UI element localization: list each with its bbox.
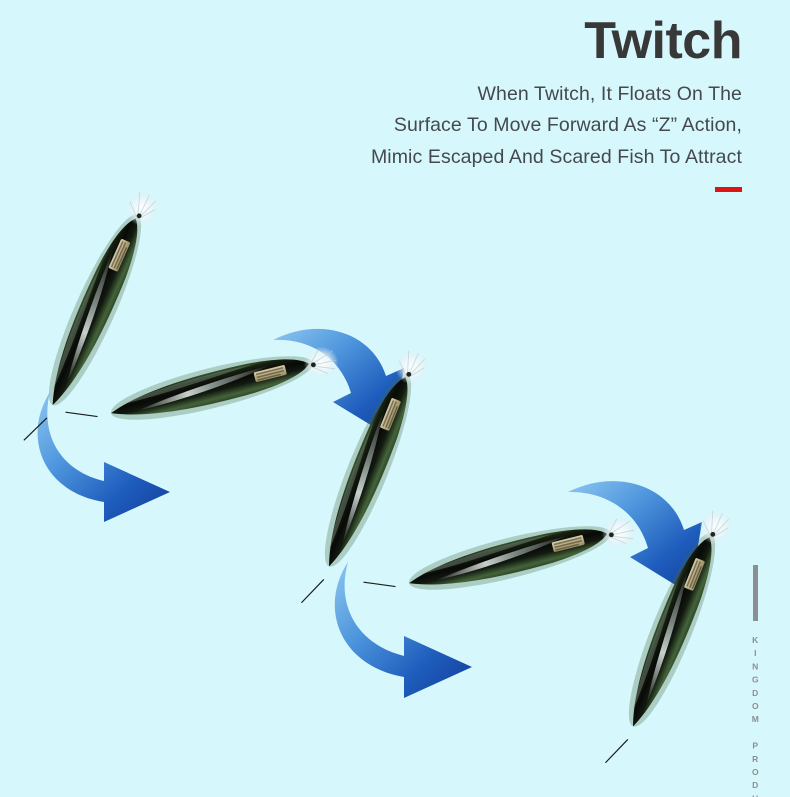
header-block: Twitch When Twitch, It Floats On The Sur… [272,14,742,192]
lure-2 [64,337,342,443]
page-subtitle: When Twitch, It Floats On The Surface To… [272,79,742,174]
brand-divider-bar [753,565,758,621]
subtitle-line-2: Surface To Move Forward As “Z” Action, [394,114,742,136]
subtitle-line-1: When Twitch, It Floats On The [478,83,742,105]
red-accent-bar [715,187,742,192]
subtitle-line-3: Mimic Escaped And Scared Fish To Attract [371,146,742,168]
brand-mark: KINGDOM PRODUCTS [746,565,764,797]
brand-label: KINGDOM PRODUCTS [751,635,760,797]
lure-4 [362,507,640,613]
page-title: Twitch [272,14,742,69]
poster-canvas: Twitch When Twitch, It Floats On The Sur… [0,0,790,797]
